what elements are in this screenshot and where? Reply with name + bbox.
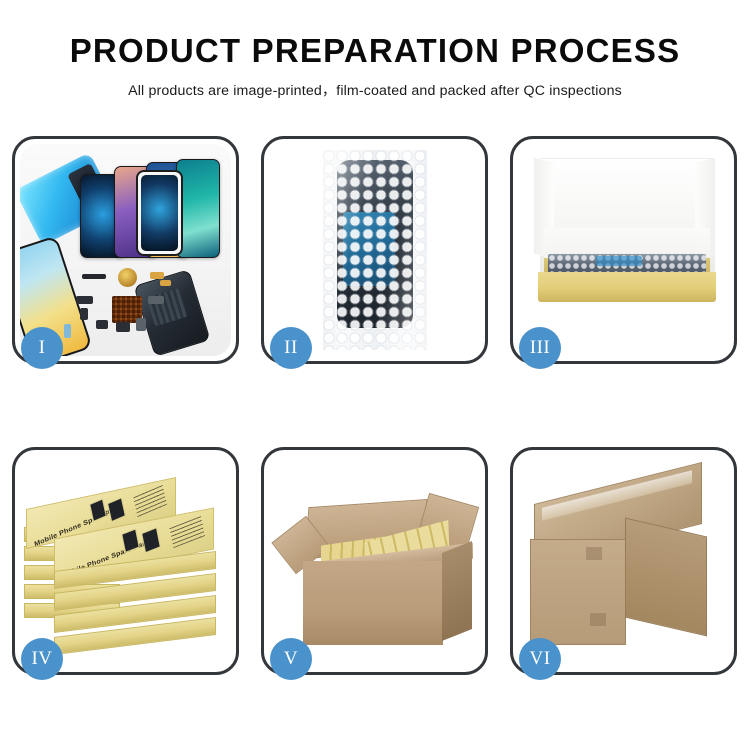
- black-connector-part: [76, 296, 93, 304]
- gold-coil-part: [118, 268, 137, 287]
- step-3-image: [518, 144, 729, 356]
- vibrator-part: [136, 318, 146, 331]
- phone-lineup: [80, 152, 231, 258]
- step-5-image: [269, 455, 480, 667]
- phone-screen-front: [136, 170, 183, 256]
- inner-box-illustration: [518, 144, 729, 356]
- box-thumb-rear-2: [107, 497, 126, 522]
- box-stack: Mobile Phone Spare Parts Mobile Phone Sp…: [24, 469, 231, 659]
- step-badge-1: I: [21, 327, 63, 369]
- process-step-3: III: [510, 136, 737, 364]
- page-title: PRODUCT PREPARATION PROCESS: [0, 34, 750, 69]
- page-subtitle: All products are image-printed，film-coat…: [0, 80, 750, 100]
- phone-back-housing: [133, 269, 210, 356]
- carton-handle-tab-top: [586, 547, 602, 560]
- button-flex-part: [96, 320, 108, 329]
- carton-handle-tab-bottom: [590, 613, 606, 626]
- sealed-carton-side: [625, 518, 707, 637]
- step-badge-2: II: [270, 327, 312, 369]
- process-step-5: V: [261, 447, 488, 675]
- small-cable-part: [80, 308, 88, 320]
- product-preparation-infographic: PRODUCT PREPARATION PROCESS All products…: [0, 0, 750, 750]
- camera-flex-part: [148, 296, 164, 304]
- sealed-carton-illustration: [518, 455, 729, 667]
- sim-tray-part: [64, 324, 71, 338]
- process-step-2: II: [261, 136, 488, 364]
- bubble-wrap-illustration: [269, 144, 480, 356]
- carton-side-face: [442, 541, 472, 641]
- amber-connector-part: [150, 272, 164, 279]
- wrap-gloss: [323, 150, 427, 350]
- process-step-1: I: [12, 136, 239, 364]
- header: PRODUCT PREPARATION PROCESS All products…: [0, 0, 750, 100]
- box-spec-lines-front: [169, 514, 205, 548]
- phones-and-parts-illustration: [20, 144, 231, 356]
- open-carton-illustration: [269, 455, 480, 667]
- speaker-part: [116, 322, 130, 332]
- box-spec-lines-rear: [133, 484, 167, 517]
- step-badge-3: III: [519, 327, 561, 369]
- process-step-6: VI: [510, 447, 737, 675]
- process-step-4: Mobile Phone Spare Parts Mobile Phone Sp…: [12, 447, 239, 675]
- step-badge-5: V: [270, 638, 312, 680]
- step-2-image: [269, 144, 480, 356]
- amber-flex-part: [160, 280, 171, 286]
- carton-front-face: [303, 561, 443, 645]
- step-6-image: [518, 455, 729, 667]
- step-1-image: [20, 144, 231, 356]
- stacked-boxes-illustration: Mobile Phone Spare Parts Mobile Phone Sp…: [20, 455, 231, 667]
- process-step-grid: I II: [12, 136, 738, 675]
- step-badge-4: IV: [21, 638, 63, 680]
- sealed-carton-front: [530, 539, 626, 645]
- box-thumb-front-2: [141, 527, 161, 553]
- step-4-image: Mobile Phone Spare Parts Mobile Phone Sp…: [20, 455, 231, 667]
- product-blue-accent: [596, 256, 642, 266]
- flex-strip-part: [82, 274, 106, 279]
- step-badge-6: VI: [519, 638, 561, 680]
- box-tray-front: [538, 272, 716, 302]
